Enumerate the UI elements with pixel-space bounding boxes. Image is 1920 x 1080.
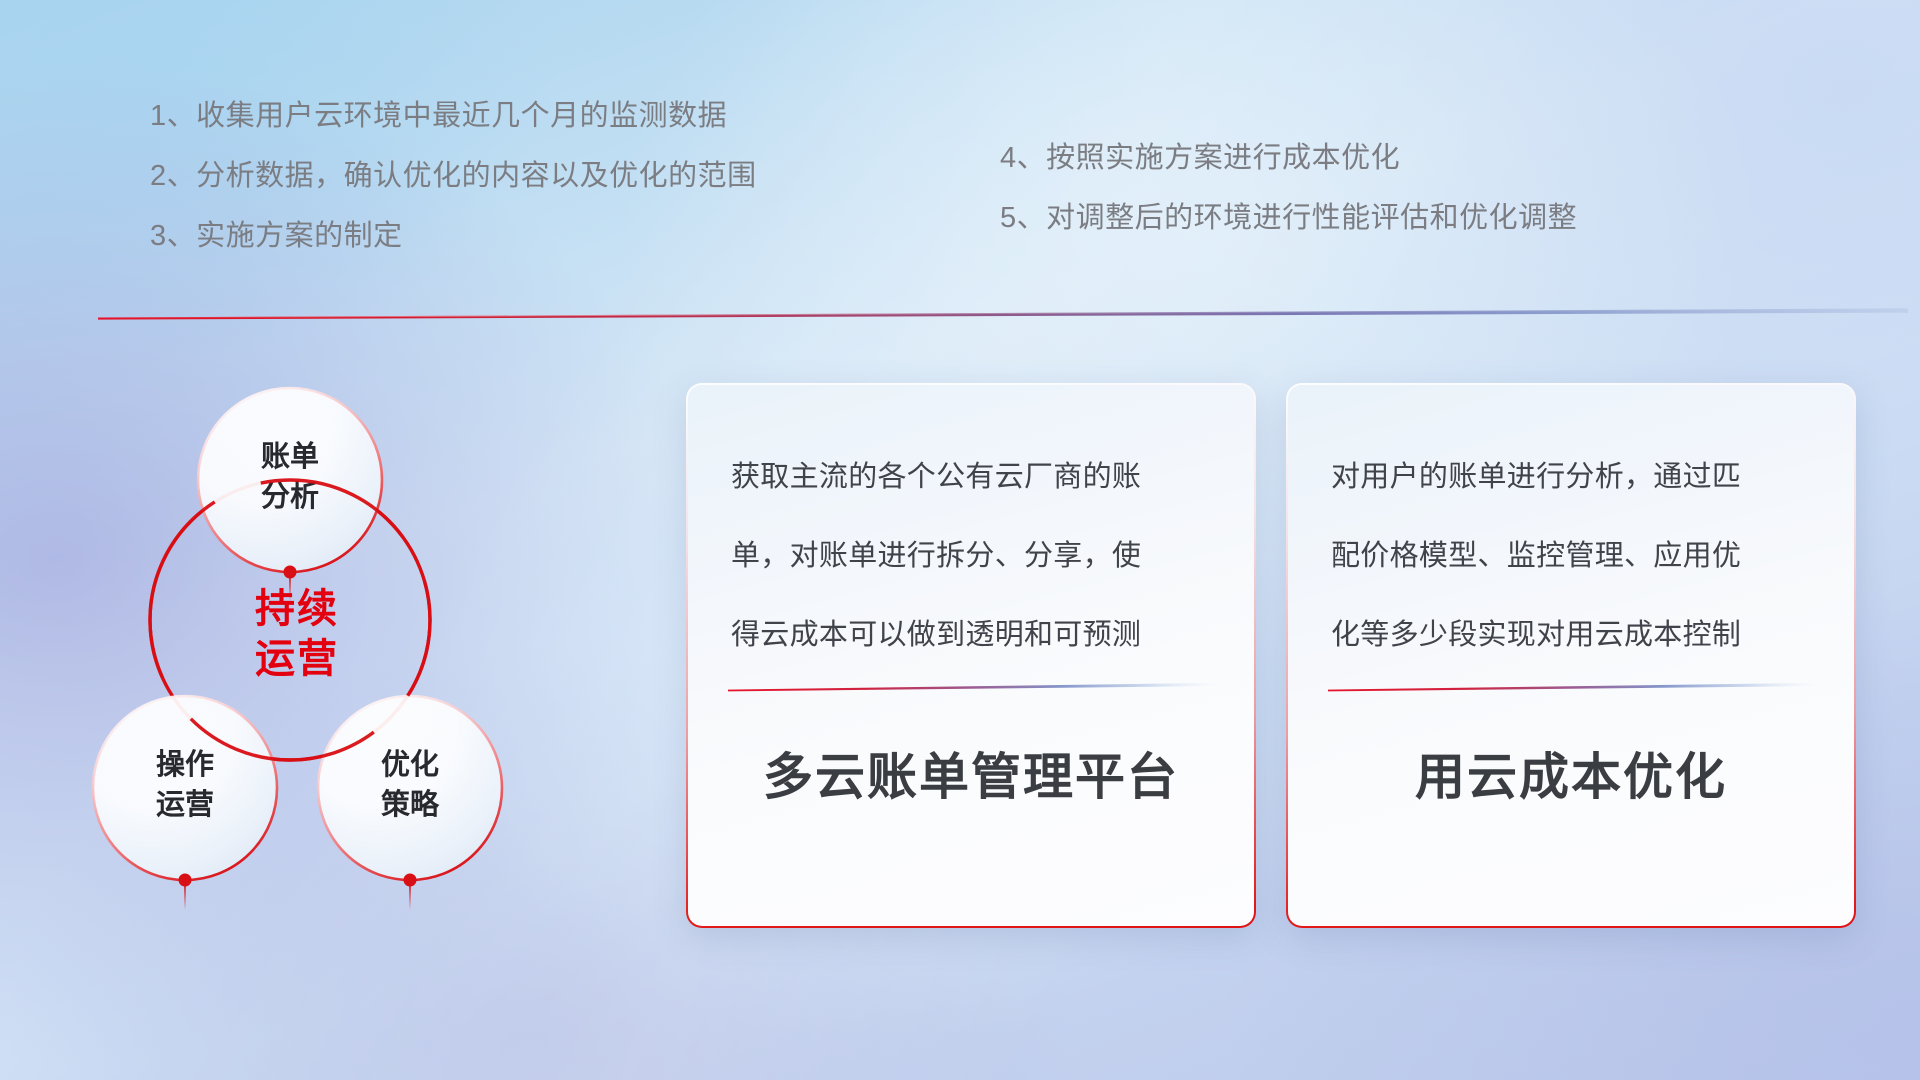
step-item: 4、按照实施方案进行成本优化 (1000, 144, 1577, 173)
steps-right-column: 4、按照实施方案进行成本优化 5、对调整后的环境进行性能评估和优化调整 (1000, 144, 1577, 264)
card-body: 获取主流的各个公有云厂商的账 单，对账单进行拆分、分享，使 得云成本可以做到透明… (731, 463, 1216, 700)
section-divider (98, 306, 1908, 320)
card-inner: 对用户的账单进行分析，通过匹 配价格模型、监控管理、应用优 化等多少段实现对用云… (1288, 385, 1854, 926)
step-item: 5、对调整后的环境进行性能评估和优化调整 (1000, 204, 1577, 233)
venn-bubble-operations: 操作 运营 (93, 696, 277, 910)
venn-center-label: 持续 (255, 587, 339, 631)
venn-bubble-label: 优化 (381, 748, 439, 781)
continuous-operations-venn: 账单 分析 操作 运营 优化 策略 持续 运营 (85, 330, 645, 970)
venn-bubble-label: 分析 (261, 480, 319, 513)
venn-bubble-label: 运营 (156, 788, 214, 821)
card-title-rule (1328, 679, 1820, 690)
card-body-line: 对用户的账单进行分析，通过匹 (1331, 463, 1816, 492)
venn-bubble-label: 策略 (381, 787, 440, 821)
card-inner: 获取主流的各个公有云厂商的账 单，对账单进行拆分、分享，使 得云成本可以做到透明… (688, 385, 1254, 926)
venn-center-label: 运营 (255, 637, 339, 681)
card-body: 对用户的账单进行分析，通过匹 配价格模型、监控管理、应用优 化等多少段实现对用云… (1331, 463, 1816, 700)
steps-left-column: 1、收集用户云环境中最近几个月的监测数据 2、分析数据，确认优化的内容以及优化的… (150, 102, 757, 282)
card-body-line: 单，对账单进行拆分、分享，使 (731, 542, 1216, 571)
card-title-rule (728, 679, 1220, 690)
step-item: 2、分析数据，确认优化的内容以及优化的范围 (150, 162, 757, 191)
card-body-line: 得云成本可以做到透明和可预测 (731, 621, 1216, 650)
venn-bubble-optimization-strategy: 优化 策略 (318, 696, 502, 910)
card-cloud-cost-optimization[interactable]: 对用户的账单进行分析，通过匹 配价格模型、监控管理、应用优 化等多少段实现对用云… (1286, 383, 1856, 928)
venn-bubble-label: 账单 (261, 440, 319, 473)
card-title: 多云账单管理平台 (688, 737, 1254, 809)
card-title: 用云成本优化 (1288, 737, 1854, 809)
card-body-line: 配价格模型、监控管理、应用优 (1331, 542, 1816, 571)
step-item: 1、收集用户云环境中最近几个月的监测数据 (150, 102, 757, 131)
card-body-line: 化等多少段实现对用云成本控制 (1331, 621, 1816, 650)
step-item: 3、实施方案的制定 (150, 222, 757, 251)
card-body-line: 获取主流的各个公有云厂商的账 (731, 463, 1216, 492)
venn-bubble-label: 操作 (156, 748, 214, 781)
card-multi-cloud-bill-platform[interactable]: 获取主流的各个公有云厂商的账 单，对账单进行拆分、分享，使 得云成本可以做到透明… (686, 383, 1256, 928)
